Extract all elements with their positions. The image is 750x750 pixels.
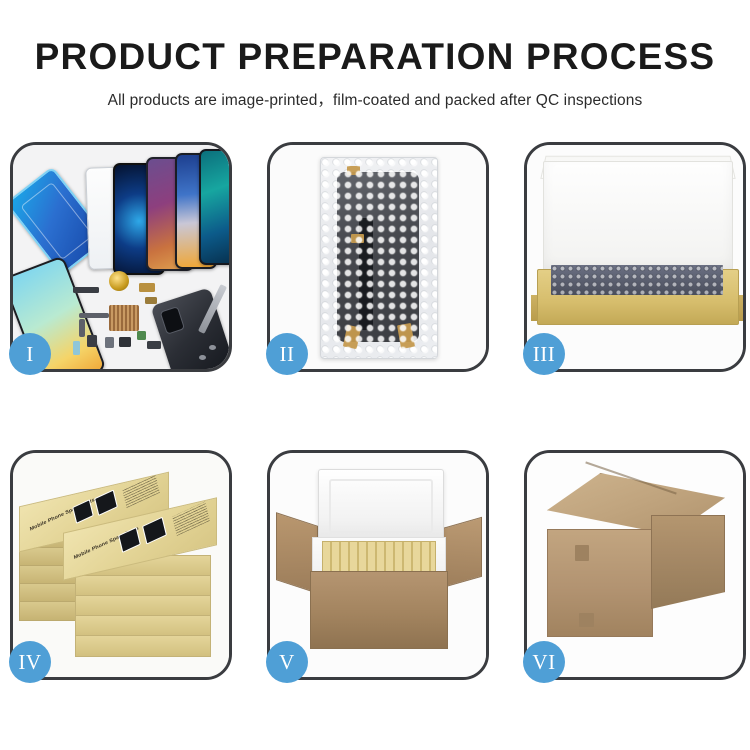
small-part-chip xyxy=(73,341,80,355)
phone-parts-illustration xyxy=(13,145,229,369)
carton-body-image xyxy=(310,571,448,649)
copper-shield-part xyxy=(109,305,139,331)
phone-teal-display-image xyxy=(199,149,229,265)
box-label-thumbnail xyxy=(142,517,167,545)
box-label-thumbnail xyxy=(118,527,141,553)
page-subtitle: All products are image-printed，film-coat… xyxy=(0,88,750,110)
step-panel-3[interactable]: III xyxy=(524,142,746,372)
step-badge-4: IV xyxy=(9,641,51,683)
small-part-bracket xyxy=(145,297,157,304)
tape-piece xyxy=(347,166,360,175)
small-part-chip xyxy=(87,335,97,347)
step-panel-1[interactable]: I xyxy=(10,142,232,372)
foam-lid-image xyxy=(318,469,444,543)
small-part-chip xyxy=(119,337,131,347)
screw-part xyxy=(209,345,216,350)
wireless-coil-part xyxy=(109,271,129,291)
stacked-box-layer xyxy=(75,615,211,637)
box-label-specs xyxy=(122,474,160,508)
small-part-connector xyxy=(139,283,155,292)
small-part-chip xyxy=(73,287,99,293)
step-badge-6: VI xyxy=(523,641,565,683)
stacked-boxes-illustration: Mobile Phone Spare Parts Mobile Phone Sp… xyxy=(13,453,229,677)
process-steps-grid: I II III xyxy=(10,142,746,680)
carton-side-face xyxy=(651,515,725,609)
carton-handle-tab xyxy=(579,613,594,627)
step-panel-6[interactable]: VI xyxy=(524,450,746,680)
box-label-thumbnail xyxy=(72,499,94,524)
stacked-box-layer xyxy=(75,595,211,617)
wrapped-screen-part xyxy=(337,172,419,342)
small-part-chip xyxy=(147,341,161,349)
step-badge-2: II xyxy=(266,333,308,375)
carton-handle-tab xyxy=(575,545,589,561)
step-panel-2[interactable]: II xyxy=(267,142,489,372)
screw-part xyxy=(199,355,206,360)
carton-front-face xyxy=(547,529,653,637)
step-badge-5: V xyxy=(266,641,308,683)
sealed-carton-illustration xyxy=(527,453,743,677)
small-part-chip xyxy=(137,331,146,340)
bubble-wrap-bag-image xyxy=(320,157,438,359)
tape-piece xyxy=(351,234,364,243)
tape-piece xyxy=(343,325,361,349)
stacked-box-layer xyxy=(75,575,211,597)
step-badge-1: I xyxy=(9,333,51,375)
small-part-chip xyxy=(105,337,114,348)
box-label-thumbnail xyxy=(94,489,118,516)
bubble-wrapped-contents-image xyxy=(551,265,723,295)
step-panel-4[interactable]: Mobile Phone Spare Parts Mobile Phone Sp… xyxy=(10,450,232,680)
flex-cable-part xyxy=(79,313,109,318)
step-badge-3: III xyxy=(523,333,565,375)
foam-carton-illustration xyxy=(270,453,486,677)
page-header: PRODUCT PREPARATION PROCESS All products… xyxy=(0,0,750,110)
page-title: PRODUCT PREPARATION PROCESS xyxy=(0,38,750,77)
flex-cable-part xyxy=(79,319,85,337)
step-panel-5[interactable]: V xyxy=(267,450,489,680)
stacked-box-layer xyxy=(75,635,211,657)
inner-box-illustration xyxy=(527,145,743,369)
box-label-specs xyxy=(172,501,210,536)
bubble-wrap-illustration xyxy=(270,145,486,369)
box-lid-back-image xyxy=(543,161,733,273)
